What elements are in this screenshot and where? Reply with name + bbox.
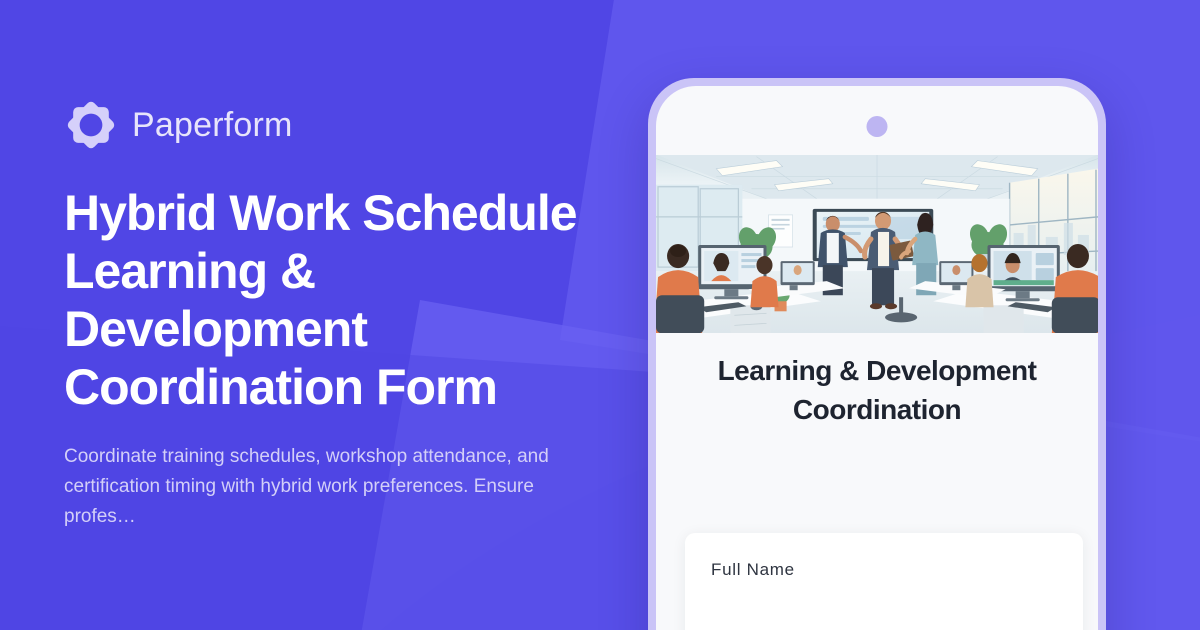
front-camera-dot-icon [867,116,888,137]
phone-screen: Learning & Development Coordination Full… [656,86,1098,630]
brand-lockup: Paperform [64,98,624,152]
office-training-session-image [656,155,1098,333]
full-name-input[interactable] [711,581,1057,607]
full-name-label: Full Name [685,559,1083,581]
form-card: Full Name [685,533,1083,630]
hero-text-column: Paperform Hybrid Work Schedule Learning … [64,0,624,630]
og-image-canvas: Paperform Hybrid Work Schedule Learning … [0,0,1200,630]
brand-wordmark: Paperform [132,108,293,142]
phone-mockup: Learning & Development Coordination Full… [648,78,1106,630]
page-title: Hybrid Work Schedule Learning & Developm… [64,184,604,416]
paperform-star-logo-icon [64,98,118,152]
form-title: Learning & Development Coordination [656,351,1098,429]
page-subtitle: Coordinate training schedules, workshop … [64,442,564,532]
